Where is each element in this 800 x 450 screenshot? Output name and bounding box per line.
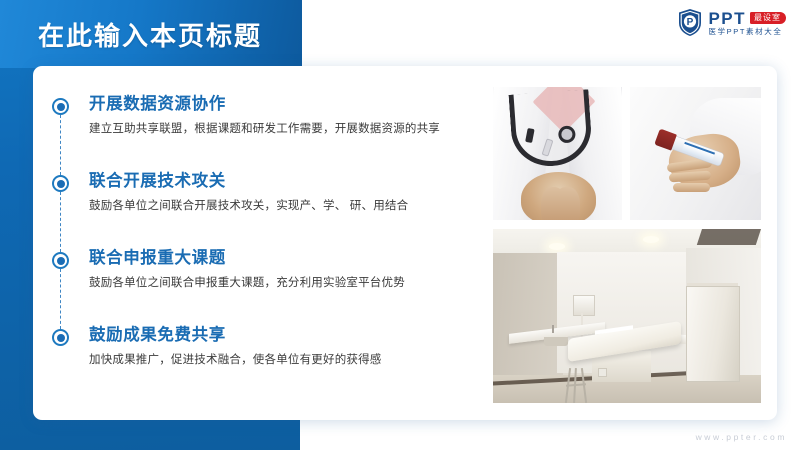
photo-hand-holding-blood-sample-vial — [630, 87, 761, 220]
logo-brand-text: PPT — [708, 10, 746, 27]
bullet-marker-icon — [52, 175, 69, 192]
stethoscope-chestpiece — [558, 125, 576, 143]
shield-icon: P — [677, 8, 703, 37]
list-item[interactable]: 鼓励成果免费共享 加快成果推广，促进技术融合，使各单位有更好的获得感 — [52, 325, 492, 402]
logo-text-column: PPT 最设室 医学PPT素材大全 — [708, 10, 786, 36]
watermark: www.ppter.com — [696, 432, 787, 442]
content-card: 开展数据资源协作 建立互助共享联盟，根据课题和研发工作需要，开展数据资源的共享 … — [33, 66, 777, 420]
stool-leg — [581, 368, 587, 403]
list-item[interactable]: 联合申报重大课题 鼓励各单位之间联合申报重大课题，充分利用实验室平台优势 — [52, 248, 492, 325]
finger — [673, 183, 710, 192]
wall-dispenser — [573, 295, 594, 316]
list-item-description: 鼓励各单位之间联合开展技术攻关，实现产、学、 研、用结合 — [89, 199, 492, 215]
list-item-description: 建立互助共享联盟，根据课题和研发工作需要，开展数据资源的共享 — [89, 122, 492, 138]
faucet — [552, 325, 554, 333]
ceiling-light-icon — [549, 243, 565, 250]
ceiling-light-icon — [643, 236, 659, 243]
stool — [565, 368, 600, 403]
list-item[interactable]: 开展数据资源协作 建立互助共享联盟，根据课题和研发工作需要，开展数据资源的共享 — [52, 94, 492, 171]
bullet-marker-icon — [52, 329, 69, 346]
logo-brand-row: PPT 最设室 — [708, 10, 786, 27]
list-item[interactable]: 联合开展技术攻关 鼓励各单位之间联合开展技术攻关，实现产、学、 研、用结合 — [52, 171, 492, 248]
hand-right — [554, 187, 579, 220]
connector-dashed-line — [60, 269, 61, 329]
ceiling-beam — [697, 229, 761, 245]
photo-clinic-examination-room — [493, 229, 761, 403]
logo-badge: 最设室 — [750, 12, 786, 24]
photo-doctor-white-coat-stethoscope — [493, 87, 622, 220]
list-item-description: 鼓励各单位之间联合申报重大课题，充分利用实验室平台优势 — [89, 276, 492, 292]
storage-cabinet — [686, 286, 740, 382]
bullet-list: 开展数据资源协作 建立互助共享联盟，根据课题和研发工作需要，开展数据资源的共享 … — [52, 94, 492, 402]
brand-logo[interactable]: P PPT 最设室 医学PPT素材大全 — [677, 8, 786, 37]
connector-dashed-line — [60, 192, 61, 252]
page-title: 在此输入本页标题 — [0, 16, 262, 53]
list-item-description: 加快成果推广，促进技术融合，使各单位有更好的获得感 — [89, 353, 492, 369]
bullet-marker-icon — [52, 252, 69, 269]
folded-hands — [521, 172, 596, 220]
title-banner: 在此输入本页标题 — [0, 0, 302, 68]
svg-text:P: P — [687, 17, 694, 28]
list-item-title: 开展数据资源协作 — [89, 94, 492, 115]
list-item-title: 鼓励成果免费共享 — [89, 325, 492, 346]
wall-outlet — [598, 368, 607, 377]
logo-tagline: 医学PPT素材大全 — [708, 28, 786, 36]
wall-left — [493, 253, 563, 378]
sink — [544, 337, 568, 346]
photo-collage — [493, 87, 765, 403]
connector-dashed-line — [60, 115, 61, 175]
list-item-title: 联合申报重大课题 — [89, 248, 492, 269]
stethoscope-earpiece — [526, 128, 536, 143]
bullet-marker-icon — [52, 98, 69, 115]
list-item-title: 联合开展技术攻关 — [89, 171, 492, 192]
